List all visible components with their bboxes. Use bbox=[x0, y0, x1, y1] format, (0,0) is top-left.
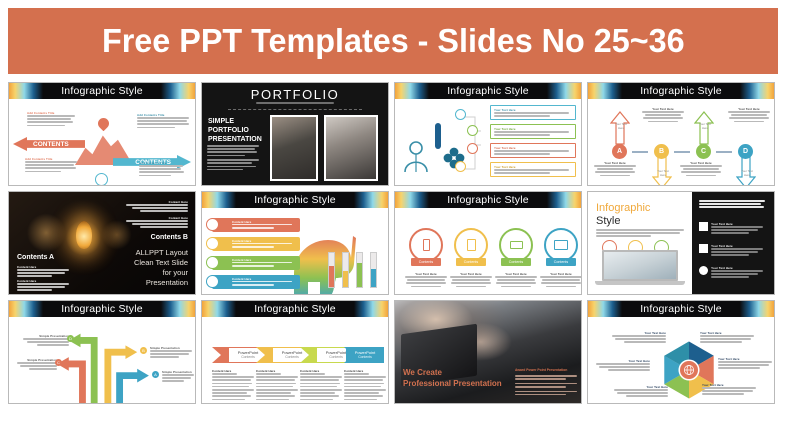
mail-icon bbox=[699, 244, 708, 253]
slide-thumbnail-laptop-split[interactable]: Infographic Style bbox=[587, 191, 775, 295]
side-heading: Award Power Point Presentation bbox=[515, 368, 577, 372]
intro-text bbox=[596, 229, 684, 239]
segment-caption: Your Text Here bbox=[614, 385, 668, 399]
slide-title: Infographic Style bbox=[447, 85, 529, 97]
slide-thumbnail-typing-photo[interactable]: We Create Professional Presentation Awar… bbox=[394, 300, 582, 404]
step-caption: Your Text Here bbox=[680, 161, 722, 178]
left-arrow-label: CONTENTS bbox=[33, 141, 69, 148]
slide-body: CONTENTS CONTENTS Add Contents Title Add… bbox=[9, 99, 195, 185]
step-caption: Your Text Here bbox=[594, 161, 636, 178]
contents-b-label: Contents B bbox=[151, 234, 188, 241]
text-block: Add Contents Title bbox=[137, 113, 189, 130]
arrow-inner-text: Your Text Here bbox=[698, 122, 712, 130]
desktop-icon bbox=[544, 228, 578, 262]
gauge-bar bbox=[328, 252, 335, 288]
slide-thumbnail-ribbon-columns[interactable]: Infographic Style PowerPoint Contents Co… bbox=[201, 300, 389, 404]
ribbon-column-text: Content Here bbox=[212, 369, 254, 402]
award-icon bbox=[206, 218, 219, 231]
content-band: Content Here bbox=[212, 256, 300, 270]
step-badge-d: D bbox=[738, 144, 753, 159]
gauge-bar bbox=[370, 252, 377, 288]
page-title: Free PPT Templates - Slides No 25~36 bbox=[102, 22, 685, 60]
text-block: Add Contents Title bbox=[139, 161, 187, 178]
allppt-layout-text: ALLPPT Layout Clean Text Slide for your … bbox=[134, 248, 188, 288]
person-icon bbox=[206, 275, 219, 288]
slide-title: Infographic Style bbox=[640, 303, 722, 315]
print-icon bbox=[699, 222, 708, 231]
slide-thumbnail-icon-chain[interactable]: Infographic Style bbox=[394, 82, 582, 186]
person-with-camera-photo bbox=[324, 115, 378, 181]
slide-title: Infographic Style bbox=[61, 303, 143, 315]
title-line-1: Infographic bbox=[596, 202, 650, 214]
slide-title: Infographic Style bbox=[447, 194, 529, 206]
item-caption: Your Text Here bbox=[495, 272, 537, 289]
step-dot: A bbox=[152, 371, 159, 378]
content-block: Content Here bbox=[126, 200, 188, 214]
content-band: Content Here bbox=[212, 218, 300, 232]
divider bbox=[228, 109, 362, 110]
gear-icon bbox=[455, 161, 466, 172]
arrow-caption: Simple Presentation bbox=[150, 346, 192, 360]
slide-body: Contents Your Text Here Contents Your Te… bbox=[395, 208, 581, 294]
slide-title: Infographic Style bbox=[640, 85, 722, 97]
leaf-icon bbox=[467, 125, 478, 136]
slide-title: Infographic Style bbox=[254, 194, 336, 206]
right-list-item: Your Text Here bbox=[699, 222, 763, 236]
right-intro-text bbox=[699, 200, 765, 210]
arrow-caption: Simple Presentation bbox=[23, 334, 69, 348]
slide-row-1: Infographic Style CONTENTS CONTENTS Add … bbox=[8, 82, 778, 186]
arrow-caption: Simple Presentation bbox=[162, 370, 194, 384]
slide-title-bar: Infographic Style bbox=[202, 301, 388, 317]
slide-body: Your Text Here Your Text Here Your Text … bbox=[395, 99, 581, 185]
side-item bbox=[515, 391, 577, 396]
slide-title-bar: Infographic Style bbox=[588, 83, 774, 99]
comment-icon bbox=[699, 266, 708, 275]
content-band: Content Here bbox=[212, 275, 300, 289]
right-list-item: Your Text Here bbox=[699, 266, 763, 280]
lightbulb-icon bbox=[76, 221, 92, 249]
text-block: Add Contents Title bbox=[25, 157, 77, 174]
info-icon bbox=[467, 143, 478, 154]
info-card: Your Text Here bbox=[490, 162, 576, 177]
laptop-icon bbox=[499, 228, 533, 262]
content-band: Content Here bbox=[212, 237, 300, 251]
target-icon bbox=[206, 256, 219, 269]
slide-body: Your Text Here Your Text Here Your Text … bbox=[588, 317, 774, 403]
step-dot: D bbox=[67, 335, 74, 342]
left-panel: Infographic Style bbox=[588, 192, 692, 294]
step-dot: B bbox=[140, 347, 147, 354]
step-dot: C bbox=[55, 359, 62, 366]
gauge-bar bbox=[342, 252, 349, 288]
location-pin-icon bbox=[94, 114, 112, 132]
slide-thumbnail-bent-arrows[interactable]: Infographic Style Simple Present bbox=[8, 300, 196, 404]
slide-title-bar: Infographic Style bbox=[588, 301, 774, 317]
side-text-block: Award Power Point Presentation bbox=[515, 368, 577, 397]
slide-title-bar: Infographic Style bbox=[395, 83, 581, 99]
headline: We Create Professional Presentation bbox=[403, 367, 502, 389]
arrow-inner-text: Your Text Here bbox=[614, 122, 628, 130]
slide-row-2: Content Here Content Here Contents B Con… bbox=[8, 191, 778, 295]
slide-title: Infographic Style bbox=[254, 303, 336, 315]
slide-title-bar: Infographic Style bbox=[9, 301, 195, 317]
slide-body: PowerPoint Contents Content Here PowerPo… bbox=[202, 317, 388, 403]
ribbon-column-text: Content Here bbox=[344, 369, 386, 402]
step-caption: Your Text Here bbox=[728, 107, 770, 124]
smartphone-icon bbox=[409, 228, 443, 262]
globe-icon bbox=[455, 109, 466, 120]
slide-thumbnail-medallions[interactable]: Infographic Style Contents Your Text Her… bbox=[394, 191, 582, 295]
info-card: Your Text Here bbox=[490, 124, 576, 139]
slide-thumbnail-contents-arrows[interactable]: Infographic Style CONTENTS CONTENTS Add … bbox=[8, 82, 196, 186]
slide-thumbnail-lightbulb-dark[interactable]: Content Here Content Here Contents B Con… bbox=[8, 191, 196, 295]
person-leaning-photo bbox=[270, 115, 318, 181]
gauge-bar bbox=[356, 252, 363, 288]
laptop-on-desk-photo bbox=[602, 250, 678, 288]
segment-caption: Your Text Here bbox=[596, 359, 650, 373]
segment-caption: Your Text Here bbox=[718, 357, 772, 371]
info-card: Your Text Here bbox=[490, 105, 576, 120]
content-block: Content Here bbox=[17, 279, 69, 293]
step-badge-c: C bbox=[696, 144, 711, 159]
slide-thumbnail-portfolio[interactable]: PORTFOLIO SIMPLEPORTFOLIOPRESENTATION bbox=[201, 82, 389, 186]
segment-caption: Your Text Here bbox=[700, 331, 754, 345]
slide-title-bar: Infographic Style bbox=[202, 192, 388, 208]
slide-body: Content Here Content Here bbox=[202, 208, 388, 294]
arrow-inner-text: Your Text Here bbox=[656, 169, 670, 177]
slide-grid: Infographic Style CONTENTS CONTENTS Add … bbox=[8, 82, 778, 404]
slide-row-3: Infographic Style Simple Present bbox=[8, 300, 778, 404]
title-line-2: Style bbox=[596, 215, 620, 227]
ribbon-label: PowerPoint Contents bbox=[346, 347, 384, 363]
slide-title: Infographic Style bbox=[61, 85, 143, 97]
segment-caption: Your Text Here bbox=[612, 331, 666, 345]
slide-title-bar: Infographic Style bbox=[395, 192, 581, 208]
step-badge-a: A bbox=[612, 144, 627, 159]
portfolio-body-text bbox=[207, 145, 261, 172]
right-panel: Your Text Here Your Text Here bbox=[692, 192, 774, 294]
portfolio-title: PORTFOLIO bbox=[202, 87, 388, 102]
slide-thumbnail-hexagon-wheel[interactable]: Infographic Style bbox=[587, 300, 775, 404]
right-list-item: Your Text Here bbox=[699, 244, 763, 258]
item-caption: Your Text Here bbox=[540, 272, 582, 289]
contents-pill: Contents bbox=[546, 258, 576, 266]
content-block: Content Here bbox=[17, 265, 69, 279]
text-block: Add Contents Title bbox=[27, 111, 75, 128]
content-block: Content Here bbox=[126, 216, 188, 230]
tablet-icon bbox=[454, 228, 488, 262]
contents-a-label: Contents A bbox=[17, 254, 54, 261]
side-item bbox=[515, 375, 577, 380]
slide-body: A B C D Your Text Here Your Text Here bbox=[588, 99, 774, 185]
portfolio-subtitle bbox=[202, 102, 388, 104]
step-caption: Your Text Here bbox=[642, 107, 684, 124]
ribbon-column-text: Content Here bbox=[300, 369, 342, 402]
slide-thumbnail-elephant-bands[interactable]: Infographic Style bbox=[201, 191, 389, 295]
side-item bbox=[515, 383, 577, 388]
contents-pill: Contents bbox=[501, 258, 531, 266]
contents-pill: Contents bbox=[456, 258, 486, 266]
circle-badge-icon bbox=[95, 173, 108, 186]
ribbon-column-text: Content Here bbox=[256, 369, 298, 402]
info-card: Your Text Here bbox=[490, 143, 576, 158]
arrow-inner-text: Your Text Here bbox=[740, 169, 754, 177]
slide-body: Simple Presentation D Simple Presentatio… bbox=[9, 317, 195, 403]
step-badge-b: B bbox=[654, 144, 669, 159]
item-caption: Your Text Here bbox=[405, 272, 447, 289]
contents-pill: Contents bbox=[411, 258, 441, 266]
page-header-banner: Free PPT Templates - Slides No 25~36 bbox=[8, 8, 778, 74]
arrow-caption: Simple Presentation bbox=[17, 358, 57, 372]
chart-icon bbox=[206, 237, 219, 250]
segment-caption: Your Text Here bbox=[702, 383, 756, 397]
slide-gallery-page: Free PPT Templates - Slides No 25~36 Inf… bbox=[0, 0, 786, 445]
globe-icon bbox=[680, 361, 698, 379]
item-caption: Your Text Here bbox=[450, 272, 492, 289]
slide-thumbnail-updown-arrows[interactable]: Infographic Style A bbox=[587, 82, 775, 186]
slide-title-bar: Infographic Style bbox=[9, 83, 195, 99]
portfolio-heading: SIMPLEPORTFOLIOPRESENTATION bbox=[208, 117, 262, 144]
